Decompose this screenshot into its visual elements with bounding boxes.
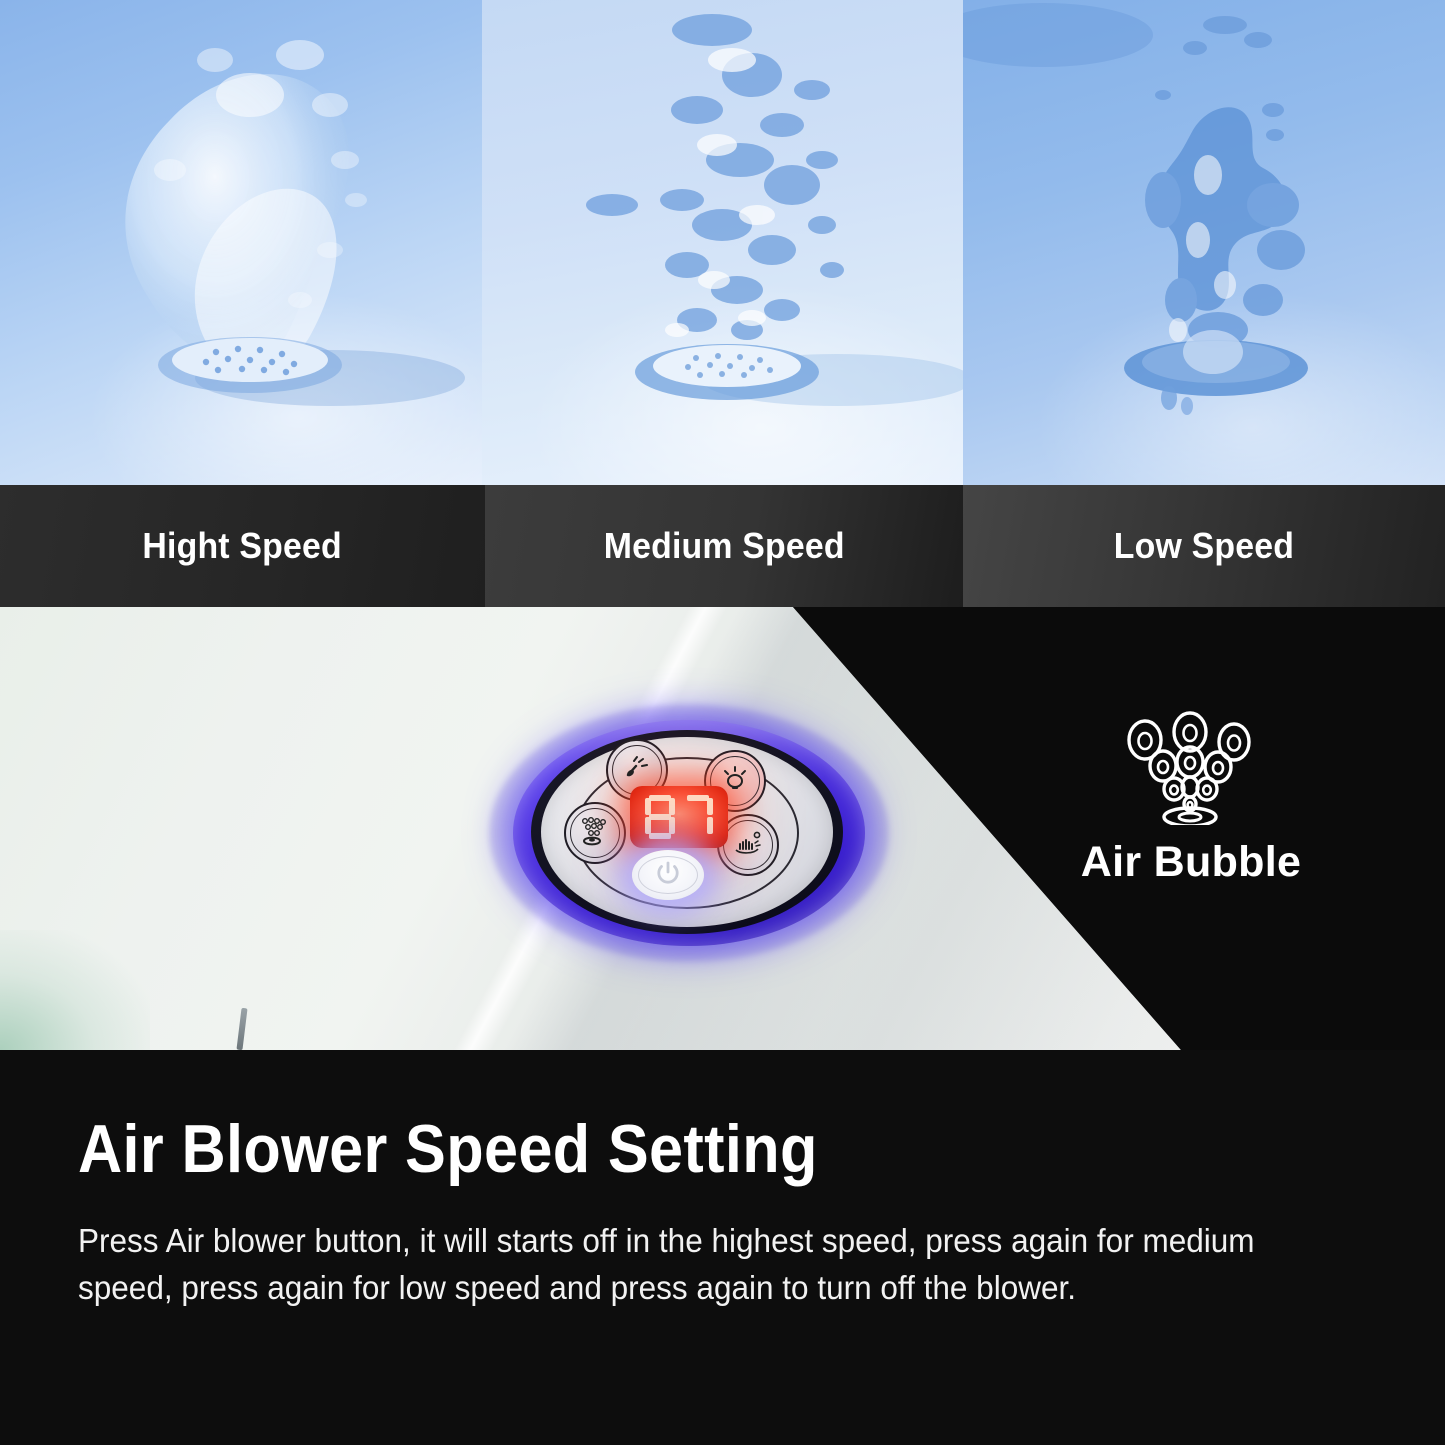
control-pod[interactable]: 87 [489,704,889,962]
power-button[interactable] [632,850,704,900]
air-bubble-icon [1115,710,1265,825]
speed-label-low: Low Speed [963,485,1445,607]
massage-jet-icon [622,753,652,788]
speed-label-low-text: Low Speed [1114,525,1294,567]
photo-low-speed [963,0,1445,485]
speed-label-high-text: Hight Speed [143,525,342,567]
air-bubble-jet-icon [578,815,612,852]
air-jet-medium-icon [482,0,963,485]
air-jet-low-icon [963,0,1445,485]
page-title: Air Blower Speed Setting [78,1110,818,1188]
speed-label-high: Hight Speed [0,485,485,607]
radio-wave-icon [732,829,764,862]
description-text: Press Air blower button, it will starts … [78,1218,1312,1312]
product-infographic: Hight Speed Medium Speed Low Speed [0,0,1445,1445]
power-icon [654,859,682,892]
air-jet-high-icon [0,0,482,485]
description-section: Air Blower Speed Setting Press Air blowe… [0,1050,1445,1445]
led-display: 87 [630,786,728,848]
speed-label-band: Hight Speed Medium Speed Low Speed [0,485,1445,607]
air-bubble-button[interactable] [564,802,626,864]
photo-medium-speed [482,0,963,485]
photo-high-speed [0,0,482,485]
air-bubble-label: Air Bubble [1075,838,1307,887]
bathtub-green-tint [0,930,150,1050]
speed-label-medium: Medium Speed [485,485,963,607]
speed-label-medium-text: Medium Speed [603,525,844,567]
speed-photo-strip [0,0,1445,485]
light-bulb-icon [720,764,750,799]
